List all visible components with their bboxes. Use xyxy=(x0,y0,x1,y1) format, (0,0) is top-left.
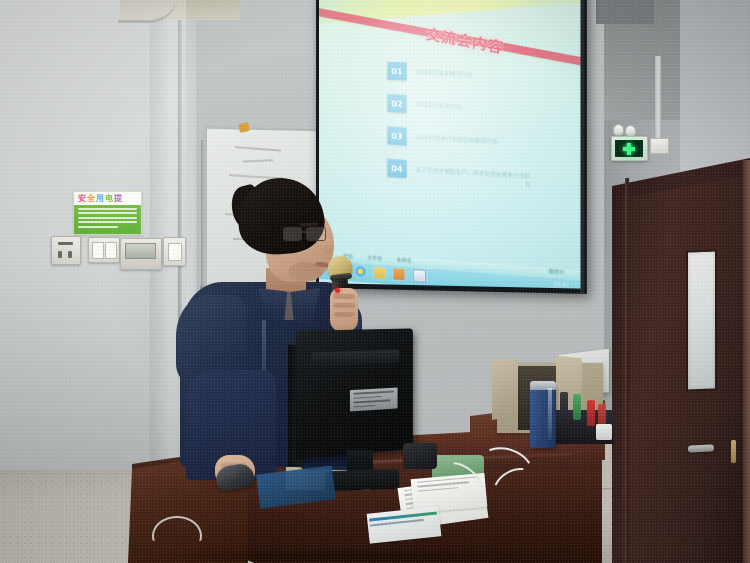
poster-title-char-3: 用 xyxy=(96,193,104,204)
carton-flap-left xyxy=(492,358,518,420)
microphone-power-led-icon xyxy=(335,288,340,293)
door-window-pane xyxy=(686,249,717,391)
taskbar-clock[interactable]: 15:42 xyxy=(553,282,568,289)
poster-title: 安 全 用 电 提 xyxy=(78,193,122,204)
thermos-highlight xyxy=(548,388,552,440)
light-switch-plate-right[interactable] xyxy=(163,237,186,266)
blue-thermos[interactable] xyxy=(530,385,556,448)
monitor-back-ridge xyxy=(311,350,399,367)
slide-item-number-badge: 02 xyxy=(387,94,406,113)
door-handle[interactable] xyxy=(688,444,714,452)
slide-item-text: SCOTT技术产品及应用案例介绍 xyxy=(416,135,498,147)
door-edge-strip xyxy=(625,178,629,563)
emergency-lamp-icon xyxy=(613,124,624,136)
eyeglass-lens-left xyxy=(283,227,302,241)
light-switch-plate-left[interactable] xyxy=(88,237,120,263)
monitor-stand-base xyxy=(325,469,399,492)
lectern-floor-shadow xyxy=(140,548,570,563)
white-cup[interactable] xyxy=(596,424,612,440)
thermos-cap[interactable] xyxy=(530,381,556,390)
door[interactable] xyxy=(622,176,744,563)
door-outer-edge xyxy=(743,160,750,563)
marker-green[interactable] xyxy=(573,394,581,420)
slide-item-text: 电缆集团渠道介绍 xyxy=(416,103,461,112)
projected-image-area: 交流会内容 01 电缆集团基本情况介绍 02 电缆集团渠道介绍 03 SCOTT… xyxy=(319,0,582,289)
speaker-hand-holding-microphone xyxy=(330,288,358,332)
marker-red-secondary[interactable] xyxy=(598,404,606,426)
slide-item-text: 关工艺技术辅助生产、技术交流及竞争力分析 xyxy=(416,167,531,181)
monitor-spec-label xyxy=(350,388,398,412)
poster-title-char-2: 全 xyxy=(87,193,95,204)
eyeglasses xyxy=(283,227,326,240)
green-cross-icon xyxy=(623,143,635,155)
taskbar-label-untitled[interactable]: 未命名 xyxy=(396,256,411,264)
poster-title-char-5: 提 xyxy=(114,193,122,204)
computer-monitor[interactable] xyxy=(296,328,413,459)
taskbar-label-folder[interactable]: 文件夹 xyxy=(367,254,382,262)
poster-title-char-1: 安 xyxy=(78,193,86,204)
wall-conduit xyxy=(655,56,661,140)
whiteboard-marker[interactable] xyxy=(238,122,249,133)
browser-icon[interactable] xyxy=(355,265,366,277)
poster-body-lines xyxy=(78,208,137,230)
ceiling-notch xyxy=(596,0,654,24)
wall-safety-poster: 安 全 用 电 提 xyxy=(73,191,142,235)
door-stop xyxy=(731,440,736,463)
black-device[interactable] xyxy=(403,443,437,469)
marker-dark[interactable] xyxy=(560,392,568,422)
slide-agenda-list: 01 电缆集团基本情况介绍 02 电缆集团渠道介绍 03 SCOTT技术产品及应… xyxy=(387,62,581,204)
slide-item-number-badge: 03 xyxy=(387,126,406,145)
slide-item-number-badge: 04 xyxy=(387,159,406,178)
presentation-photo-scene: 安 全 用 电 提 xyxy=(0,0,750,563)
marker-red[interactable] xyxy=(587,400,595,426)
slide-title: 交流会内容 xyxy=(425,24,505,58)
ac-panel-display xyxy=(125,243,156,259)
presentation-slide: 交流会内容 01 电缆集团基本情况介绍 02 电缆集团渠道介绍 03 SCOTT… xyxy=(325,4,579,269)
eyeglass-lens-right xyxy=(306,227,326,241)
exit-sign-display xyxy=(615,140,643,157)
screen-right-bezel xyxy=(580,0,586,294)
taskbar-status-label: 播放中 xyxy=(548,268,564,276)
media-player-icon[interactable] xyxy=(393,268,404,280)
projection-screen[interactable]: 交流会内容 01 电缆集团基本情况介绍 02 电缆集团渠道介绍 03 SCOTT… xyxy=(316,0,587,294)
power-outlet-plate[interactable] xyxy=(51,236,81,265)
poster-title-char-4: 电 xyxy=(105,193,113,204)
document-icon[interactable] xyxy=(413,269,426,283)
folder-icon[interactable] xyxy=(374,267,385,279)
slide-item-number-badge: 01 xyxy=(387,62,406,81)
wall-junction-box xyxy=(650,138,669,154)
slide-item-text: 电缆集团基本情况介绍 xyxy=(416,70,473,80)
